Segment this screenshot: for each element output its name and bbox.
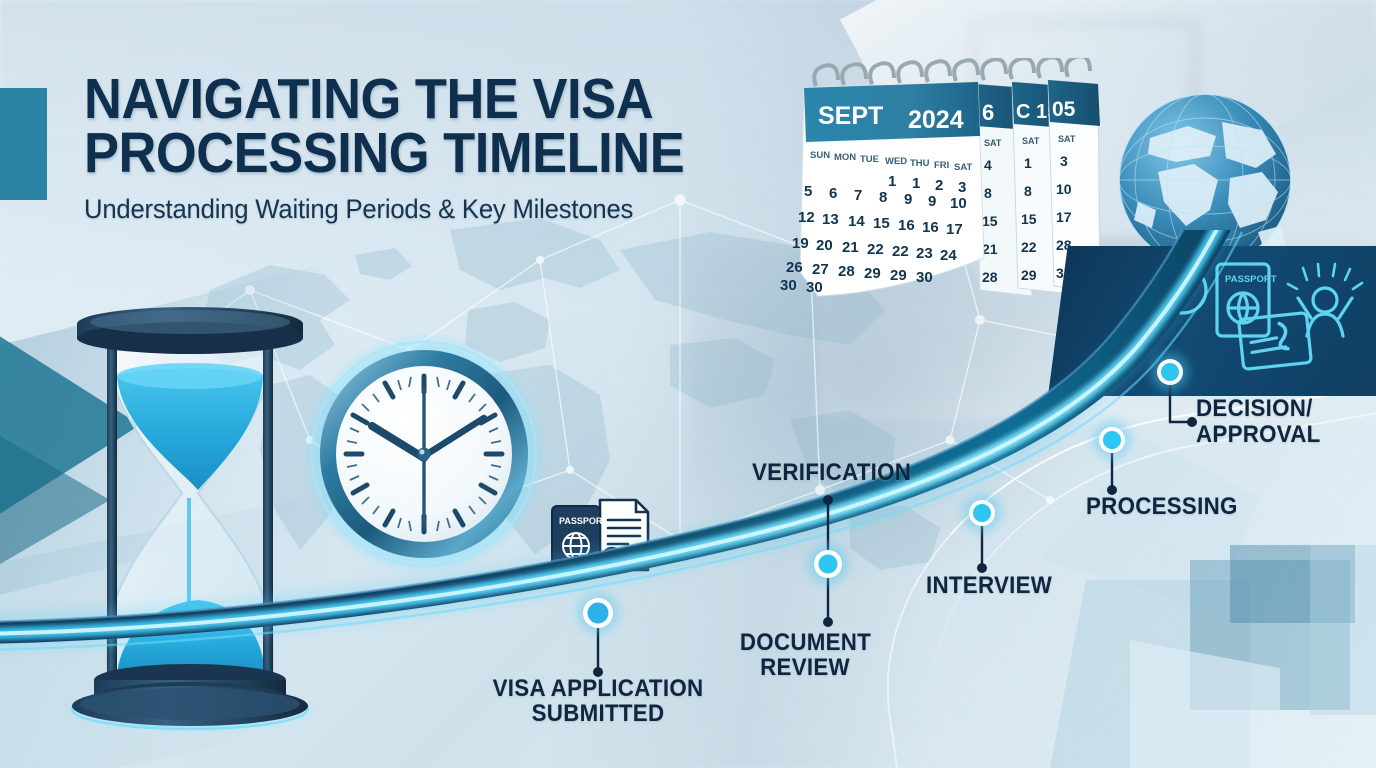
milestone-label-line2: REVIEW: [740, 655, 870, 680]
milestone-label-line1: DOCUMENT: [740, 630, 870, 655]
milestone-label-decision-approval: DECISION/ APPROVAL: [1196, 396, 1321, 449]
infographic-canvas: NAVIGATING THE VISA PROCESSING TIMELINE …: [0, 0, 1376, 768]
milestone-label-line1: DECISION/: [1196, 396, 1321, 422]
milestone-label-verification: VERIFICATION: [752, 460, 911, 485]
milestone-label-line2: SUBMITTED: [488, 701, 707, 726]
milestone-label-interview: INTERVIEW: [926, 573, 1052, 598]
milestone-label-visa-application-submitted: VISA APPLICATION SUBMITTED: [488, 676, 707, 727]
milestone-label-line2: APPROVAL: [1196, 422, 1321, 448]
milestone-markers: [0, 0, 1376, 768]
milestone-label-processing: PROCESSING: [1086, 494, 1238, 519]
milestone-label-document-review: DOCUMENT REVIEW: [740, 630, 870, 681]
milestone-label-line1: VISA APPLICATION: [488, 676, 707, 701]
